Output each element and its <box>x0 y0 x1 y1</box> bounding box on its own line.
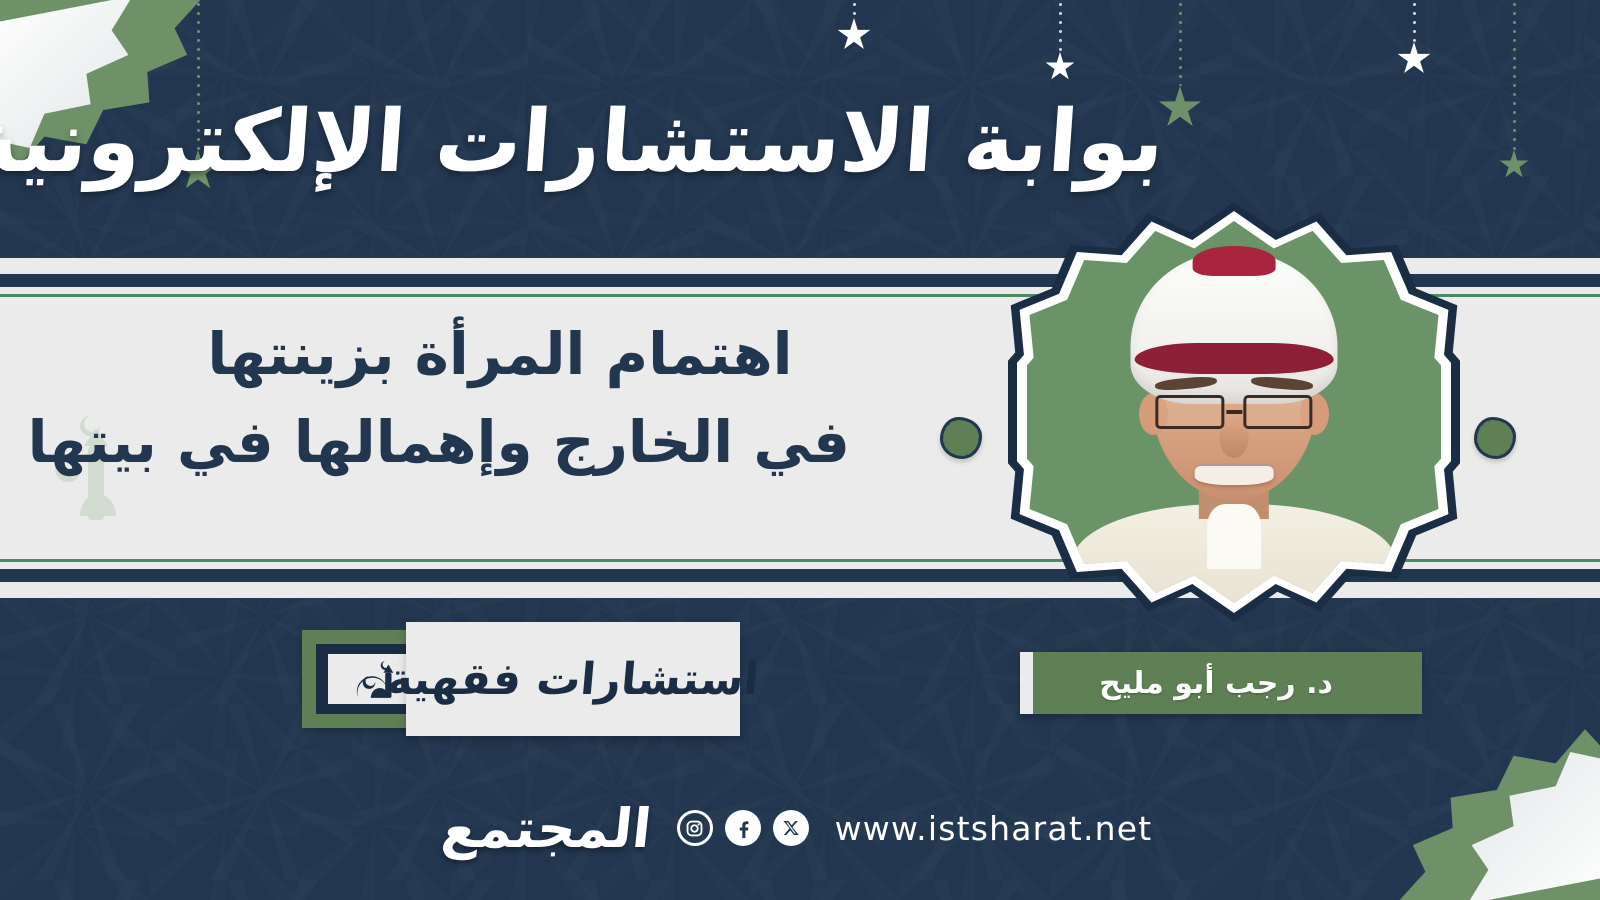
page-title: اهتمام المرأة بزينتها في الخارج وإهمالها… <box>150 310 850 486</box>
header-calligraphy-text: بوابة الاستشارات الإلكترونية <box>0 92 1167 193</box>
footer-bar: المجتمع www.istsharat.net <box>0 784 1600 872</box>
speaker-nameplate: د. رجب أبو مليح <box>1020 652 1422 714</box>
header-calligraphy: بوابة الاستشارات الإلكترونية <box>196 58 936 228</box>
medallion-photo-area <box>1027 221 1441 603</box>
banner-canvas: بوابة الاستشارات الإلكترونية اهتمام المر… <box>0 0 1600 900</box>
website-url[interactable]: www.istsharat.net <box>835 809 1153 848</box>
title-line-2: في الخارج وإهمالها في بيتها <box>150 398 850 486</box>
title-line-1: اهتمام المرأة بزينتها <box>150 310 850 398</box>
facebook-icon[interactable] <box>725 810 761 846</box>
rosette-decoration-right-icon <box>1474 417 1516 459</box>
hanging-star-green-1 <box>1178 0 1182 130</box>
rosette-decoration-left-icon <box>940 417 982 459</box>
plaque-calligraphy-text: استشارات فقهية <box>385 654 761 705</box>
avatar <box>1027 221 1441 603</box>
instagram-icon[interactable] <box>677 810 713 846</box>
speaker-name: د. رجب أبو مليح <box>1099 666 1343 701</box>
plaque-calligraphy-panel: استشارات فقهية <box>406 622 740 736</box>
nameplate-accent-tick <box>1020 652 1033 714</box>
consultation-plaque: استشارات فقهية <box>302 622 740 736</box>
hanging-star-green-2 <box>1512 0 1516 180</box>
hanging-star-white-1 <box>852 0 856 52</box>
x-icon[interactable] <box>773 810 809 846</box>
social-links <box>677 810 809 846</box>
speaker-portrait <box>1008 202 1460 622</box>
footer-wordmark: المجتمع <box>438 797 654 860</box>
hanging-star-white-3 <box>1412 0 1416 76</box>
hanging-star-white-2 <box>1058 0 1062 82</box>
